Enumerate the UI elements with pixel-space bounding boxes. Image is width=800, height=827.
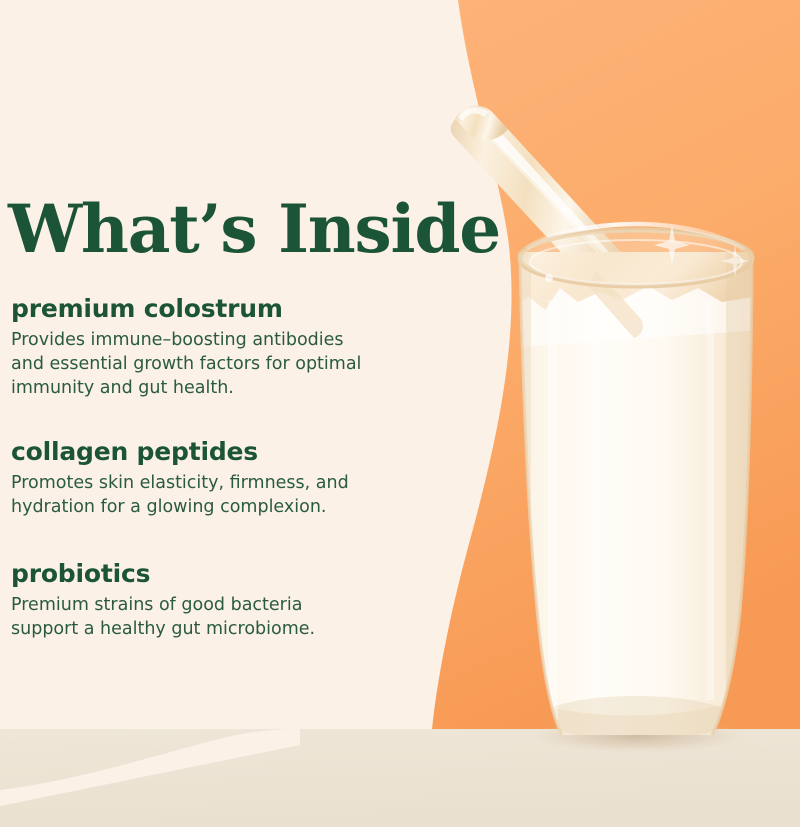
ingredient-description: Promotes skin elasticity, firmness, and … bbox=[11, 472, 349, 520]
ingredient-description: Provides immune–boosting antibodies and … bbox=[11, 329, 361, 400]
ingredient-collagen-peptides: collagen peptides Promotes skin elastici… bbox=[11, 438, 349, 520]
ingredient-name: collagen peptides bbox=[11, 438, 349, 466]
ingredient-description: Premium strains of good bacteria support… bbox=[11, 594, 315, 642]
ingredient-premium-colostrum: premium colostrum Provides immune–boosti… bbox=[11, 295, 361, 400]
ingredient-name: premium colostrum bbox=[11, 295, 361, 323]
hero-artwork bbox=[0, 0, 800, 827]
ingredient-name: probiotics bbox=[11, 560, 315, 588]
ingredient-probiotics: probiotics Premium strains of good bacte… bbox=[11, 560, 315, 642]
page-title: What’s Inside bbox=[8, 196, 500, 262]
product-panel: What’s Inside premium colostrum Provides… bbox=[0, 0, 800, 827]
